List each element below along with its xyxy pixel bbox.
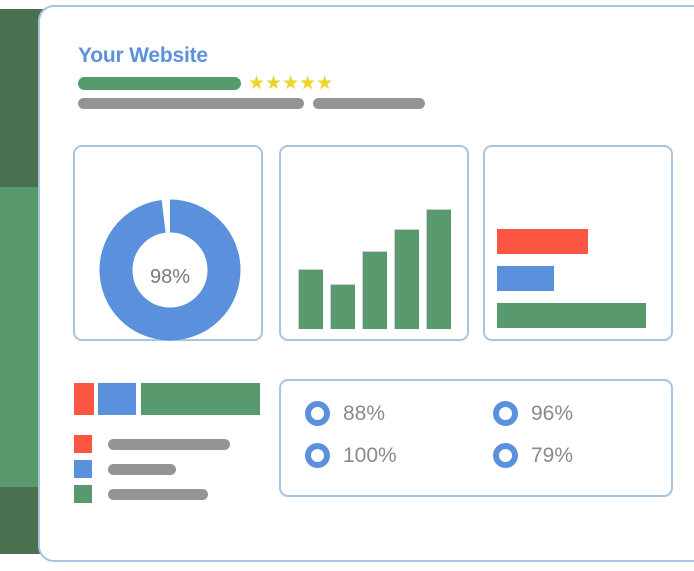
percentage-value: 79%	[531, 444, 573, 468]
placeholder-line-2	[313, 98, 425, 109]
vertical-bar	[394, 229, 419, 329]
percentage-stats-panel[interactable]: 88%96%100%79%	[279, 379, 673, 497]
donut-center-label: 98%	[99, 199, 241, 341]
legend-green	[74, 485, 208, 503]
circle-ring-icon	[493, 401, 518, 426]
horizontal-bar-chart-panel[interactable]	[483, 145, 673, 341]
vertical-bar	[426, 209, 451, 329]
blue-bar	[497, 266, 554, 291]
vertical-bar	[362, 251, 387, 329]
percentage-value: 100%	[343, 444, 397, 468]
horizontal-bars-group	[497, 229, 667, 329]
legend-red-label-placeholder	[108, 439, 230, 450]
legend-green-swatch	[74, 485, 92, 503]
percentage-value: 96%	[531, 402, 573, 426]
legend-red	[74, 435, 230, 453]
stacked-bar-chart	[74, 383, 260, 415]
vertical-bar	[298, 269, 323, 329]
red-segment	[74, 383, 94, 415]
blue-segment	[98, 383, 136, 415]
percentage-value: 88%	[343, 402, 385, 426]
legend-blue	[74, 460, 176, 478]
red-bar	[497, 229, 588, 254]
page-title: Your Website	[78, 44, 208, 68]
legend-green-label-placeholder	[108, 489, 208, 500]
percentage-stat[interactable]: 79%	[493, 443, 573, 468]
progress-bar-green	[78, 77, 241, 90]
percentage-stat[interactable]: 88%	[305, 401, 385, 426]
donut-chart: 98%	[99, 199, 241, 341]
circle-ring-icon	[493, 443, 518, 468]
legend-blue-swatch	[74, 460, 92, 478]
green-segment	[141, 383, 260, 415]
legend-red-swatch	[74, 435, 92, 453]
circle-ring-icon	[305, 401, 330, 426]
legend-blue-label-placeholder	[108, 464, 176, 475]
bar-chart-panel[interactable]	[279, 145, 469, 341]
dashboard-illustration: Your Website ★★★★★ 98% 88%96%100%79%	[0, 0, 694, 571]
circle-ring-icon	[305, 443, 330, 468]
percentage-stat[interactable]: 100%	[305, 443, 397, 468]
rating-stars: ★★★★★	[248, 74, 333, 93]
percentage-stat[interactable]: 96%	[493, 401, 573, 426]
vertical-bar	[330, 284, 355, 329]
placeholder-line-1	[78, 98, 304, 109]
vertical-bars-group	[298, 179, 458, 329]
green-bar	[497, 303, 646, 328]
donut-chart-panel[interactable]: 98%	[73, 145, 263, 341]
